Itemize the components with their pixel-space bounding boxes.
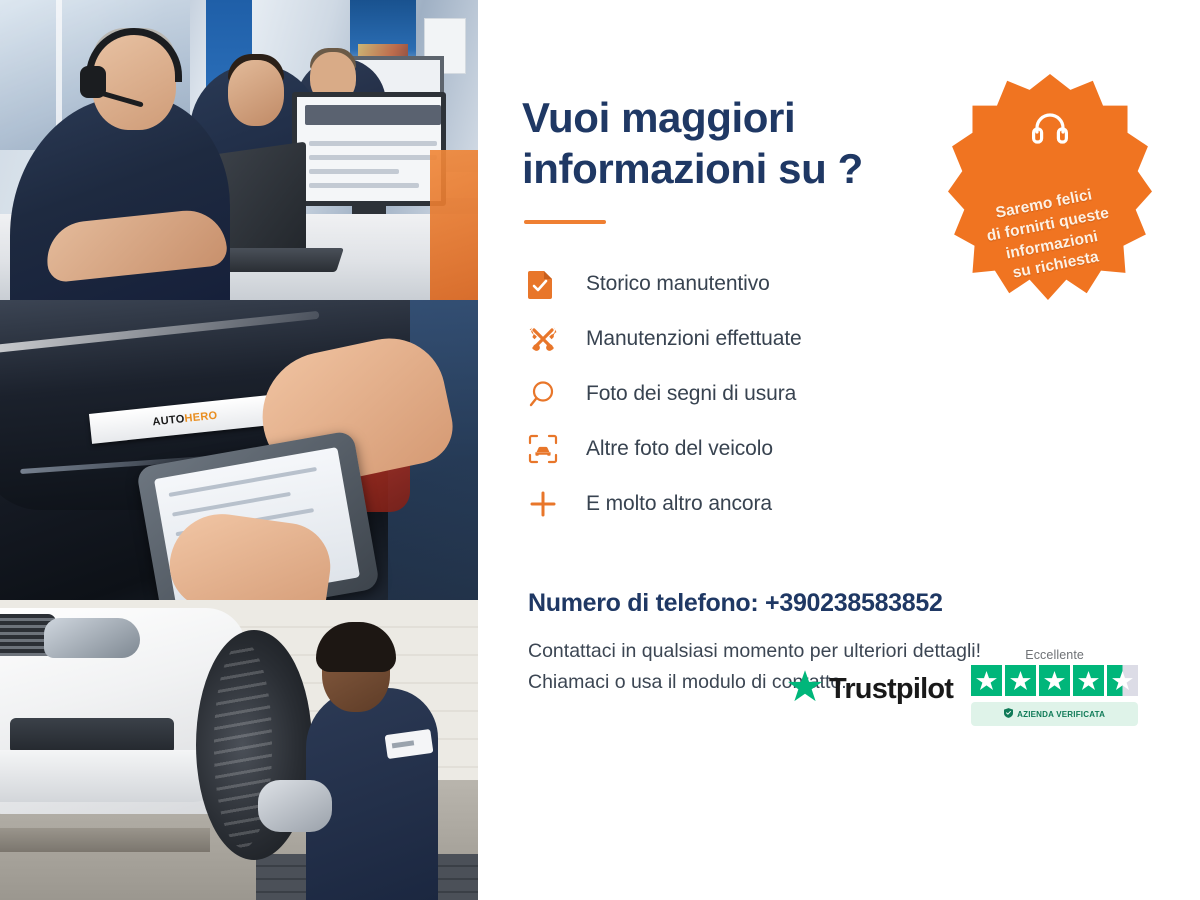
monitor-row xyxy=(309,183,419,188)
plus-icon xyxy=(528,486,572,522)
autohero-logo-auto: AUTO xyxy=(152,413,185,428)
magnifier-icon xyxy=(528,376,572,412)
feature-item-altre-foto-veicolo: Altre foto del veicolo xyxy=(528,421,1200,476)
promo-banner: AUTOHERO xyxy=(0,0,1200,900)
call-center-agents-photo xyxy=(0,0,478,300)
monitor-row xyxy=(309,155,437,160)
feature-label: Altre foto del veicolo xyxy=(586,437,773,461)
feature-label: Foto dei segni di usura xyxy=(586,382,796,406)
feature-label: Storico manutentivo xyxy=(586,272,770,296)
verified-company-badge: AZIENDA VERIFICATA xyxy=(971,702,1138,726)
photo-column: AUTOHERO xyxy=(0,0,478,900)
tablet-line xyxy=(172,492,291,517)
verified-company-label: AZIENDA VERIFICATA xyxy=(1017,710,1105,719)
vehicle-lift-ramp xyxy=(0,828,210,852)
monitor-header-bar xyxy=(305,105,441,125)
trustpilot-widget[interactable]: Trustpilot Eccellente xyxy=(788,648,1138,726)
rating-star-5-half xyxy=(1107,665,1138,696)
autohero-logo-hero: HERO xyxy=(184,410,218,425)
headline-line-2: informazioni su ? xyxy=(522,145,863,192)
rating-star-1 xyxy=(971,665,1002,696)
feature-label: Manutenzioni effettuate xyxy=(586,327,802,351)
trustpilot-stars xyxy=(971,665,1138,696)
trustpilot-wordmark: Trustpilot xyxy=(829,673,953,706)
trustpilot-logo: Trustpilot xyxy=(788,670,953,708)
monitor-row xyxy=(309,169,399,174)
workshop-tire-check-photo xyxy=(0,600,478,900)
feature-item-foto-segni-usura: Foto dei segni di usura xyxy=(528,366,1200,421)
rating-star-3 xyxy=(1039,665,1070,696)
trustpilot-rating: Eccellente xyxy=(971,648,1138,726)
car-bumper xyxy=(0,750,216,802)
feature-item-molto-altro-ancora: E molto altro ancora xyxy=(528,476,1200,531)
headline-line-1: Vuoi maggiori xyxy=(522,94,795,141)
feature-item-manutenzioni-effettuate: Manutenzioni effettuate xyxy=(528,311,1200,366)
tools-wrench-screwdriver-icon xyxy=(528,321,572,357)
car-scan-frame-icon xyxy=(528,431,572,467)
feature-label: E molto altro ancora xyxy=(586,492,772,516)
page-title: Vuoi maggiori informazioni su ? xyxy=(522,92,942,194)
vehicle-inspection-photo: AUTOHERO xyxy=(0,300,478,600)
foreground-monitor xyxy=(292,92,446,206)
rating-star-4 xyxy=(1073,665,1104,696)
agent-two-head xyxy=(228,60,284,126)
document-check-icon xyxy=(528,266,572,302)
rating-star-2 xyxy=(1005,665,1036,696)
request-info-badge: Saremo felici di fornirti queste informa… xyxy=(948,74,1152,300)
orange-equipment-decor xyxy=(430,150,478,300)
mechanic-glove xyxy=(258,780,332,832)
monitor-row xyxy=(309,141,437,146)
phone-number-line[interactable]: Numero di telefono: +390238583852 xyxy=(528,589,1200,618)
tablet-line xyxy=(169,467,317,497)
car-lower-grille xyxy=(10,718,174,754)
shield-check-icon xyxy=(1004,705,1013,723)
trustpilot-rating-label: Eccellente xyxy=(971,648,1138,662)
trustpilot-star-icon xyxy=(788,670,822,708)
headset-icon xyxy=(1030,108,1070,153)
car-headlight xyxy=(44,618,140,658)
title-underline-rule xyxy=(524,220,606,224)
